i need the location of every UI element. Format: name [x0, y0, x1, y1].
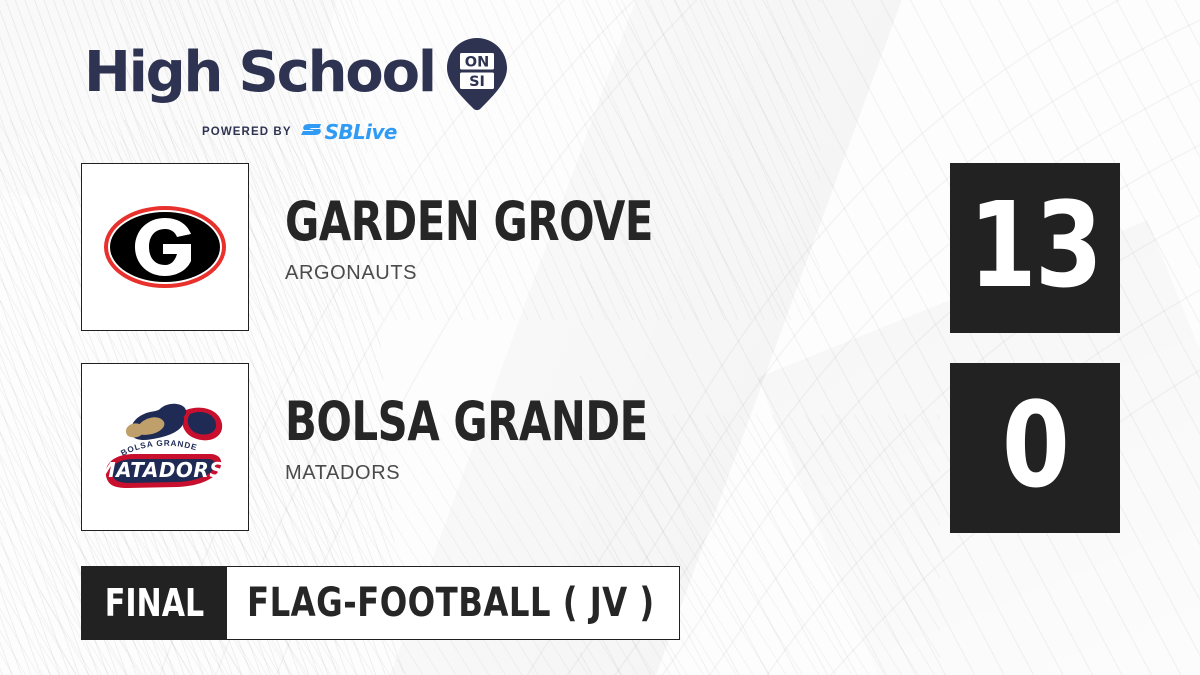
sport-label: FLAG-FOOTBALL ( JV ) — [247, 580, 655, 626]
sport-label-box: FLAG-FOOTBALL ( JV ) — [227, 566, 680, 640]
on-si-pin-icon: ON SI — [445, 36, 509, 112]
brand-header: High School ON SI POWERED BY — [84, 34, 514, 134]
sblive-mark-icon — [301, 122, 323, 142]
powered-by-label: POWERED BY — [202, 126, 292, 138]
logo-banner-text: MATADORS — [98, 458, 224, 482]
score-box-away: 0 — [950, 363, 1120, 533]
status-badge-label: FINAL — [104, 581, 203, 625]
georgia-g-oval-icon — [103, 201, 227, 293]
team-mascot: MATADORS — [285, 462, 805, 485]
team-mascot: ARGONAUTS — [285, 262, 805, 285]
scoreboard-graphic: High School ON SI POWERED BY — [0, 0, 1200, 675]
pin-label-si: SI — [469, 74, 485, 90]
brand-title: High School — [84, 45, 435, 101]
team-name: GARDEN GROVE — [285, 195, 732, 249]
bolsa-grande-matadors-logo: BOLSA GRANDE MATADORS — [81, 363, 249, 531]
sblive-wordmark: SBLive — [325, 120, 397, 144]
pin-label-on: ON — [465, 54, 489, 70]
sblive-logo: SBLive — [301, 120, 397, 144]
game-status-bar: FINAL FLAG-FOOTBALL ( JV ) — [81, 566, 680, 640]
team-info: GARDEN GROVE ARGONAUTS — [285, 195, 805, 285]
status-badge: FINAL — [81, 566, 227, 640]
team-info: BOLSA GRANDE MATADORS — [285, 395, 805, 485]
score-value: 0 — [1002, 386, 1068, 504]
score-value: 13 — [969, 186, 1101, 304]
team-name: BOLSA GRANDE — [285, 395, 732, 449]
matador-mascot-icon: BOLSA GRANDE MATADORS — [98, 392, 232, 502]
garden-grove-argonauts-logo — [81, 163, 249, 331]
score-box-home: 13 — [950, 163, 1120, 333]
